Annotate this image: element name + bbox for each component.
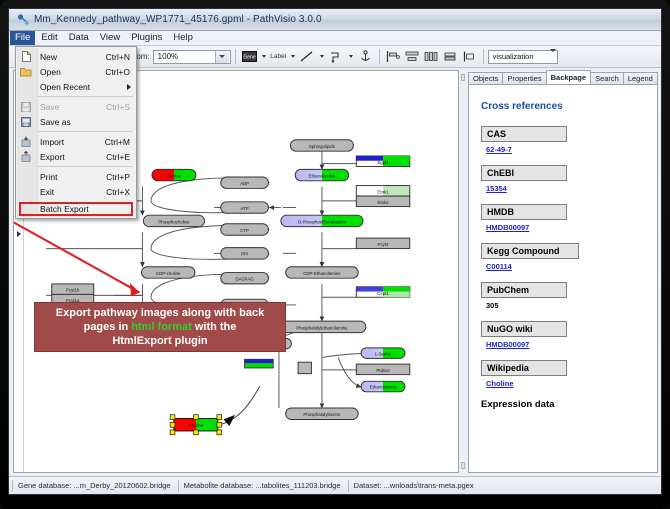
menu-item-export-accel: Ctrl+E	[106, 152, 136, 162]
xref-link-nugo[interactable]: HMDB00097	[486, 340, 529, 349]
node-connector-box	[298, 362, 311, 373]
menu-item-import[interactable]: Import Ctrl+M	[16, 134, 136, 149]
toolbar-separator	[235, 49, 236, 64]
xref-label-kegg: Kegg Compound	[481, 243, 579, 259]
zoom-combobox[interactable]: 100%	[153, 50, 231, 64]
batch-export-highlight	[19, 202, 133, 216]
menu-item-save: Save Ctrl+S	[16, 99, 136, 114]
export-icon	[16, 151, 36, 162]
menu-view[interactable]: View	[95, 31, 125, 45]
menu-item-open[interactable]: Open Ctrl+O	[16, 64, 136, 79]
svg-text:Choline: Choline	[167, 173, 182, 178]
menu-item-export[interactable]: Export Ctrl+E	[16, 149, 136, 164]
status-metabolite-database: Metabolite database: ...tabolites_111203…	[178, 480, 346, 492]
status-gene-database: Gene database: ...m_Derby_20120602.bridg…	[12, 480, 176, 492]
annotation-line2-highlight: html format	[131, 321, 192, 333]
menu-item-open-label: Open	[36, 67, 105, 77]
annotation-line3: HtmlExport plugin	[112, 335, 207, 347]
svg-text:Ethanolamine: Ethanolamine	[309, 173, 336, 178]
align-left-icon[interactable]	[385, 49, 402, 65]
menu-item-open-recent[interactable]: Open Recent	[16, 79, 136, 94]
annotation-text: Export pathway images along with back pa…	[50, 306, 270, 348]
zoom-value: 100%	[158, 52, 178, 61]
menu-item-print-accel: Ctrl+P	[106, 172, 136, 182]
xref-label-hmdb: HMDB	[481, 204, 567, 220]
menu-separator-1	[38, 96, 133, 97]
stack-icon[interactable]	[442, 49, 459, 65]
annotation-line2-post: with the	[192, 321, 237, 333]
splitter-grip-top[interactable]	[461, 74, 465, 81]
menu-item-new[interactable]: New Ctrl+N	[16, 49, 136, 64]
menu-plugins[interactable]: Plugins	[126, 31, 167, 45]
menu-file[interactable]: File	[10, 31, 35, 45]
svg-text:Gene: Gene	[243, 55, 255, 61]
tab-properties[interactable]: Properties	[502, 72, 546, 84]
title-bar: Mm_Kennedy_pathway_WP1771_45176.gpml - P…	[9, 9, 661, 31]
line-icon[interactable]	[299, 49, 316, 65]
node-adp: ADP	[221, 177, 269, 188]
svg-text:Choline: Choline	[188, 423, 203, 428]
svg-text:CTP: CTP	[240, 228, 249, 233]
side-panel: Objects Properties Backpage Search Legen…	[468, 70, 658, 473]
svg-text:L-Serine: L-Serine	[375, 351, 392, 356]
xref-link-hmdb[interactable]: HMDB00097	[486, 223, 529, 232]
tab-legend[interactable]: Legend	[623, 72, 658, 84]
file-menu-dropdown[interactable]: New Ctrl+N Open Ctrl+O Open Recent	[15, 46, 137, 219]
gene-etnk2: Etnk2	[356, 196, 409, 207]
svg-text:Phosphatidylethanolamine: Phosphatidylethanolamine	[296, 325, 348, 330]
gene-pcyt2: Pcyt2	[356, 238, 409, 249]
svg-text:Ethanolamine: Ethanolamine	[370, 385, 397, 390]
datanode-icon[interactable]: Gene	[241, 49, 258, 65]
node-choline-selected: Choline	[170, 415, 235, 435]
status-dataset: Dataset: ...wnloads\trans-meta.pgex	[348, 480, 479, 492]
chevron-down-icon-2[interactable]	[550, 52, 556, 61]
node-ethanolamine-2: Ethanolamine	[361, 381, 405, 392]
interaction-dropdown-icon[interactable]	[349, 55, 353, 58]
svg-text:Cept1: Cept1	[377, 291, 389, 296]
menu-item-export-label: Export	[36, 152, 106, 162]
toolbar-separator-2	[379, 49, 380, 64]
application-window: Mm_Kennedy_pathway_WP1771_45176.gpml - P…	[8, 8, 662, 495]
xref-value-cas: 62-49-7	[486, 145, 647, 154]
menu-bar[interactable]: File Edit Data View Plugins Help	[9, 31, 661, 46]
node-ctp: CTP	[221, 224, 269, 235]
annotation-line2-pre: pages in	[84, 321, 132, 333]
node-phosphatidylethanolamine: Phosphatidylethanolamine	[278, 321, 366, 332]
svg-text:ADP: ADP	[240, 181, 249, 186]
menu-data[interactable]: Data	[64, 31, 94, 45]
node-l-serine: L-Serine	[361, 348, 405, 359]
xref-value-kegg: C00114	[486, 262, 647, 271]
node-dag-iag: DAG/IAG	[221, 272, 269, 283]
menu-item-save-as-label: Save as	[36, 117, 130, 127]
menu-item-save-label: Save	[36, 102, 106, 112]
pathvisio-icon	[16, 13, 29, 26]
node-atp: ATP	[221, 202, 269, 213]
xref-value-hmdb: HMDB00097	[486, 223, 647, 232]
svg-text:CDP-choline: CDP-choline	[156, 271, 181, 276]
menu-separator-2	[38, 131, 133, 132]
svg-text:Etnk1: Etnk1	[377, 189, 389, 194]
anchor-icon[interactable]	[357, 49, 374, 65]
node-cdp-ethanolamine: CDP-Ethanolamine	[286, 267, 359, 278]
open-folder-icon	[16, 67, 36, 77]
label-icon[interactable]: Label	[270, 49, 287, 65]
xref-link-cas[interactable]: 62-49-7	[486, 145, 512, 154]
xref-label-cas: CAS	[481, 126, 567, 142]
node-phosphatidylserine: Phosphatidylserine	[286, 408, 359, 419]
menu-item-import-label: Import	[36, 137, 105, 147]
gene-ptdss2: Ptdss2	[356, 364, 409, 375]
svg-text:O-Phosphoethanolamine: O-Phosphoethanolamine	[298, 219, 347, 224]
label-text: Label	[270, 53, 286, 60]
menu-item-exit-label: Exit	[36, 187, 106, 197]
node-ppi: PPi	[221, 248, 269, 259]
menu-item-print[interactable]: Print Ctrl+P	[16, 169, 136, 184]
submenu-arrow-icon	[127, 84, 131, 90]
backpage-content: Cross references CAS 62-49-7 ChEBI 15354…	[468, 84, 658, 473]
node-o-phosphoethanolamine: O-Phosphoethanolamine	[281, 215, 363, 226]
gene-cept1: Cept1	[356, 287, 409, 298]
gene-pcyt1b: Pcyt1b	[52, 284, 94, 295]
chevron-down-icon[interactable]	[215, 51, 229, 63]
xref-label-wikipedia: Wikipedia	[481, 360, 567, 376]
window-title: Mm_Kennedy_pathway_WP1771_45176.gpml - P…	[34, 14, 322, 25]
svg-text:PPi: PPi	[241, 252, 248, 257]
menu-item-save-accel: Ctrl+S	[106, 102, 136, 112]
gene-sgpl1: Sgpl1	[356, 156, 409, 167]
xref-value-chebi: 15354	[486, 184, 647, 193]
xref-value-pubchem: 305	[486, 301, 647, 310]
menu-item-new-label: New	[36, 52, 106, 62]
status-bar: Gene database: ...m_Derby_20120602.bridg…	[9, 476, 661, 494]
panel-splitter[interactable]	[460, 70, 466, 473]
node-phosphocholine: Phosphocholine	[143, 215, 204, 226]
node-ethanolamine: Ethanolamine	[295, 169, 348, 180]
svg-text:Sgpl1: Sgpl1	[377, 160, 389, 165]
xref-link-kegg[interactable]: C00114	[486, 262, 512, 271]
xref-label-nugo: NuGO wiki	[481, 321, 567, 337]
svg-text:ATP: ATP	[240, 206, 248, 211]
node-cdp-choline: CDP-choline	[141, 267, 194, 278]
import-icon	[16, 136, 36, 147]
gene-etnk1: Etnk1	[356, 186, 409, 197]
svg-text:Pcyt2: Pcyt2	[378, 242, 390, 247]
datanode-dropdown-icon[interactable]	[262, 55, 266, 58]
side-panel-tabs[interactable]: Objects Properties Backpage Search Legen…	[468, 70, 658, 84]
svg-text:CDP-Ethanolamine: CDP-Ethanolamine	[303, 271, 341, 276]
svg-text:Sphingolipids: Sphingolipids	[309, 144, 336, 149]
svg-text:Etnk2: Etnk2	[377, 200, 389, 205]
label-dropdown-icon[interactable]	[291, 55, 295, 58]
node-sphingolipids: Sphingolipids	[290, 140, 353, 151]
tab-search[interactable]: Search	[590, 72, 624, 84]
cross-references-heading: Cross references	[481, 101, 647, 112]
svg-text:Phosphocholine: Phosphocholine	[158, 219, 190, 224]
tab-objects[interactable]: Objects	[468, 72, 503, 84]
menu-item-open-accel: Ctrl+O	[105, 67, 136, 77]
interaction-icon[interactable]	[328, 49, 345, 65]
distribute-icon[interactable]	[423, 49, 440, 65]
menu-item-exit[interactable]: Exit Ctrl+X	[16, 184, 136, 199]
menu-help[interactable]: Help	[168, 31, 198, 45]
new-file-icon	[16, 51, 36, 62]
align-middle-icon[interactable]	[404, 49, 421, 65]
menu-item-exit-accel: Ctrl+X	[106, 187, 136, 197]
annotation-line1: Export pathway images along with back	[56, 307, 264, 319]
visualization-value: visualization	[493, 52, 534, 61]
xref-label-chebi: ChEBI	[481, 165, 567, 181]
node-choline: Choline	[152, 169, 196, 180]
menu-item-save-as[interactable]: Save as	[16, 114, 136, 129]
xref-value-nugo: HMDB00097	[486, 340, 647, 349]
xref-value-wikipedia: Choline	[486, 379, 647, 388]
node-small-split	[245, 359, 274, 368]
annotation-callout: Export pathway images along with back pa…	[34, 302, 286, 352]
toolbar-separator-3	[483, 49, 484, 64]
menu-item-open-recent-label: Open Recent	[36, 82, 127, 92]
line-dropdown-icon[interactable]	[320, 55, 324, 58]
svg-text:Pcyt1b: Pcyt1b	[66, 288, 80, 293]
xref-link-wikipedia[interactable]: Choline	[486, 379, 514, 388]
menu-separator-3	[38, 166, 133, 167]
menu-edit[interactable]: Edit	[36, 31, 62, 45]
menu-item-import-accel: Ctrl+M	[105, 137, 136, 147]
visualization-combobox[interactable]: visualization	[488, 50, 558, 64]
menu-item-new-accel: Ctrl+N	[106, 52, 136, 62]
tab-backpage[interactable]: Backpage	[546, 70, 591, 84]
save-icon	[16, 102, 36, 112]
menu-item-batch-export[interactable]: Batch Export	[16, 201, 136, 216]
save-as-icon	[16, 117, 36, 127]
group-icon[interactable]	[461, 49, 478, 65]
svg-text:DAG/IAG: DAG/IAG	[235, 277, 254, 282]
svg-text:Ptdss2: Ptdss2	[376, 368, 390, 373]
svg-text:Phosphatidylserine: Phosphatidylserine	[303, 412, 341, 417]
splitter-grip-bottom[interactable]	[461, 462, 465, 469]
xref-link-chebi[interactable]: 15354	[486, 184, 507, 193]
screen-background: Mm_Kennedy_pathway_WP1771_45176.gpml - P…	[0, 0, 670, 509]
xref-label-pubchem: PubChem	[481, 282, 567, 298]
expression-data-heading: Expression data	[481, 399, 647, 410]
menu-item-print-label: Print	[36, 172, 106, 182]
